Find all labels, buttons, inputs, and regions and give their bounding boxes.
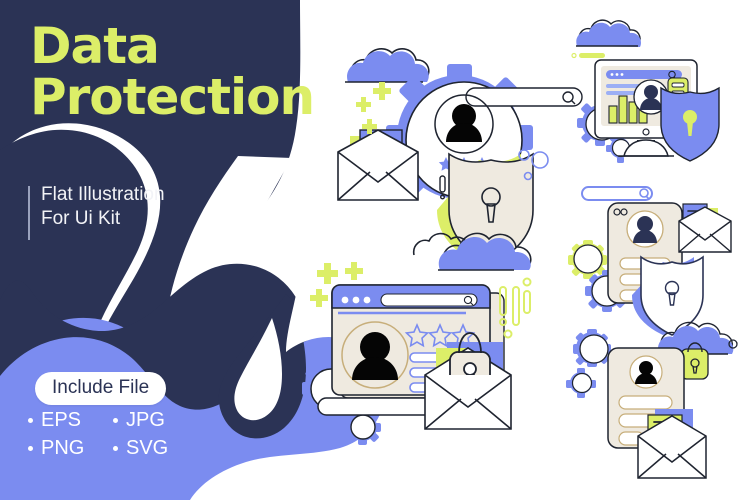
gear-large [573, 329, 611, 367]
envelope-document [638, 409, 706, 478]
sparkle-icons [356, 82, 391, 134]
gear-lime [568, 240, 607, 279]
lime-pill [572, 53, 605, 58]
illustration-gear-shield-profile [338, 49, 582, 264]
search-bar[interactable] [381, 294, 477, 306]
illustration-profile-card-shield [568, 187, 731, 335]
illustration-layer [0, 0, 750, 500]
avatar-icon [627, 211, 663, 247]
cloud-icon [345, 49, 429, 82]
window-dots [342, 297, 371, 304]
illustration-browser-profile-lock [302, 233, 531, 445]
illustration-monitor-dashboard [572, 20, 719, 163]
cloud-icon [576, 20, 641, 47]
shield-lock-icon [661, 88, 719, 161]
search-pill[interactable] [582, 187, 652, 200]
poster-canvas: Data Protection Flat Illustration For Ui… [0, 0, 750, 500]
avatar-icon [342, 322, 408, 388]
illustration-form-cloud-lock [566, 322, 737, 478]
envelope-document [679, 204, 731, 252]
avatar-icon [630, 356, 662, 388]
gear-small [566, 368, 596, 398]
